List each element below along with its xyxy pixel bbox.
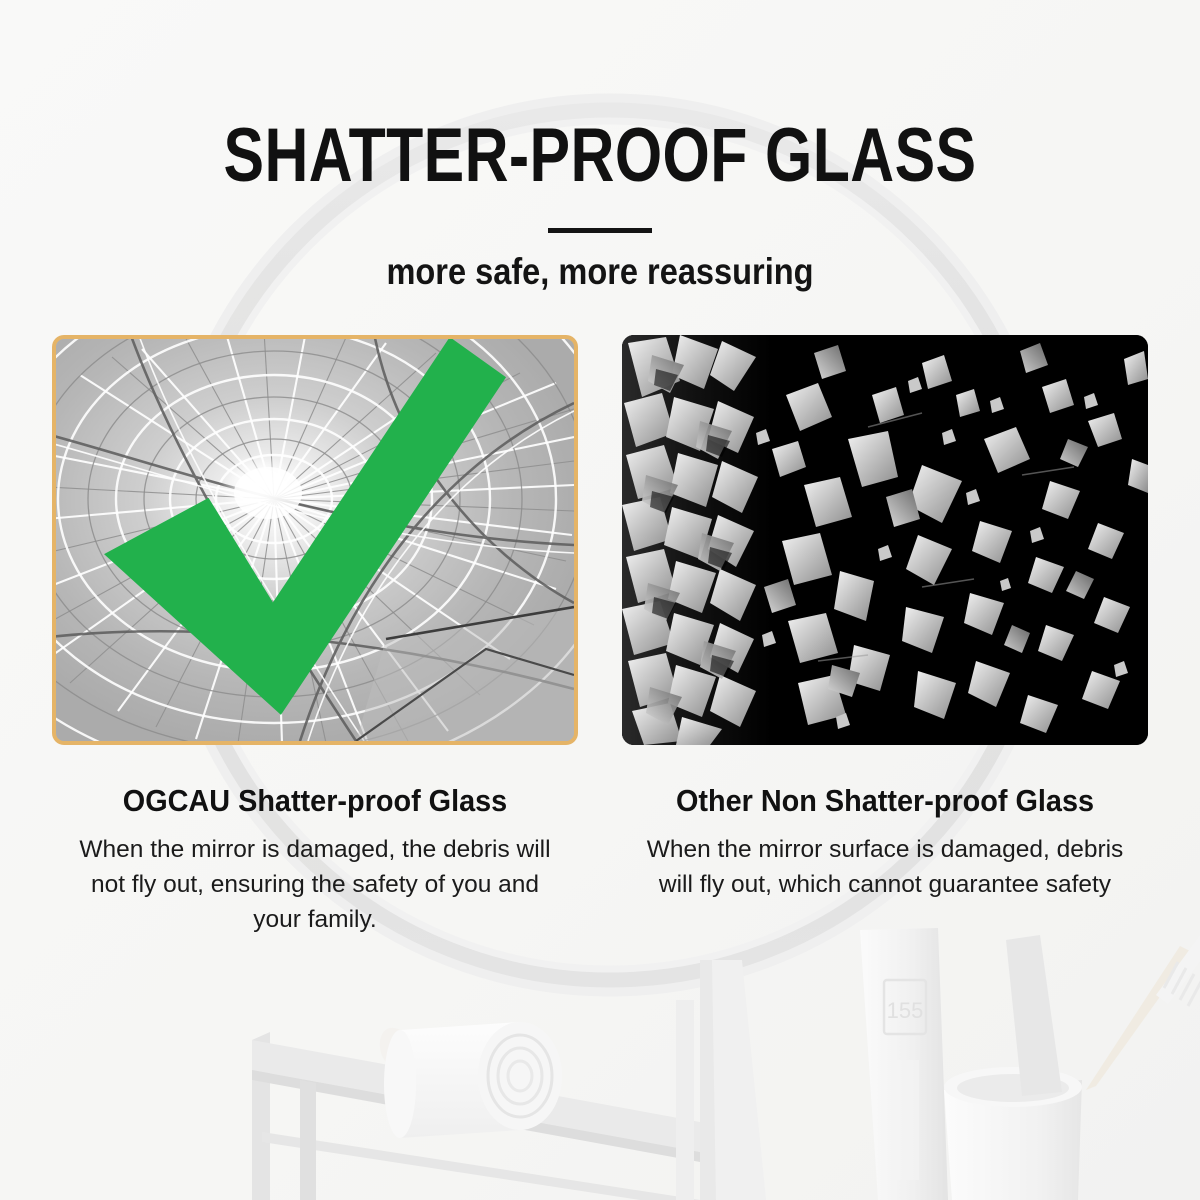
panel-caption-body-bad: When the mirror surface is damaged, debr… — [622, 833, 1148, 903]
comparison-panel-good: OGCAU Shatter-proof Glass When the mirro… — [52, 335, 578, 937]
cracked-shatterproof-glass-photo — [52, 335, 578, 745]
comparison-panel-bad: Other Non Shatter-proof Glass When the m… — [622, 335, 1148, 903]
toothbrush-cup-shape — [944, 1067, 1082, 1200]
title-divider — [548, 228, 652, 233]
panel-caption-body-good: When the mirror is damaged, the debris w… — [52, 833, 578, 937]
rolled-towel-shape — [380, 1022, 562, 1138]
svg-text:155: 155 — [887, 998, 924, 1023]
panel-caption-title-bad: Other Non Shatter-proof Glass — [640, 783, 1129, 819]
header: SHATTER-PROOF GLASS more safe, more reas… — [0, 0, 1200, 290]
page-subtitle: more safe, more reassuring — [72, 253, 1128, 290]
panel-caption-title-good: OGCAU Shatter-proof Glass — [70, 783, 559, 819]
page-title: SHATTER-PROOF GLASS — [120, 118, 1080, 194]
green-check-icon — [52, 335, 556, 731]
flying-glass-shards-photo — [622, 335, 1148, 745]
